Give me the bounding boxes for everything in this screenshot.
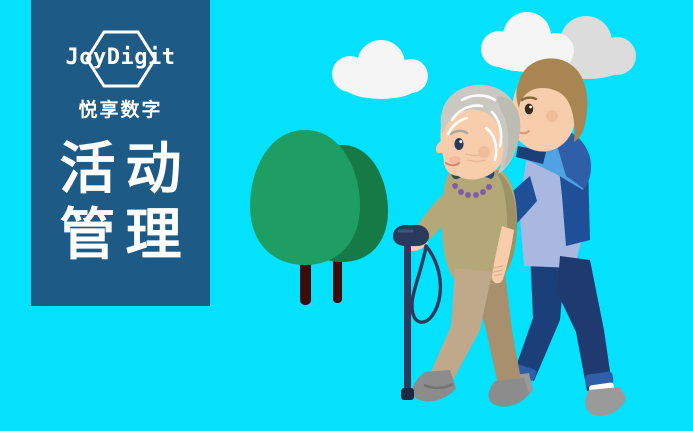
cane-ferrule: [401, 388, 414, 400]
man-ear: [546, 110, 558, 122]
page-title-line-1: 活动: [31, 136, 210, 202]
man-eye: [525, 104, 533, 115]
woman-ear: [478, 146, 490, 158]
poster-canvas: JoyDigit 悦享数字 活动 管理: [0, 0, 693, 431]
woman-eye: [454, 138, 463, 150]
cane-handle: [393, 225, 429, 246]
logo-block: JoyDigit 悦享数字: [31, 30, 210, 122]
logo-wordmark: JoyDigit: [56, 43, 186, 73]
banner-panel: JoyDigit 悦享数字 活动 管理: [31, 0, 210, 306]
cane-shaft: [404, 242, 411, 394]
page-title: 活动 管理: [31, 136, 210, 268]
logo-hexagon-mark: JoyDigit: [56, 30, 186, 88]
page-title-line-2: 管理: [31, 202, 210, 268]
brand-name-cn: 悦享数字: [31, 95, 210, 122]
